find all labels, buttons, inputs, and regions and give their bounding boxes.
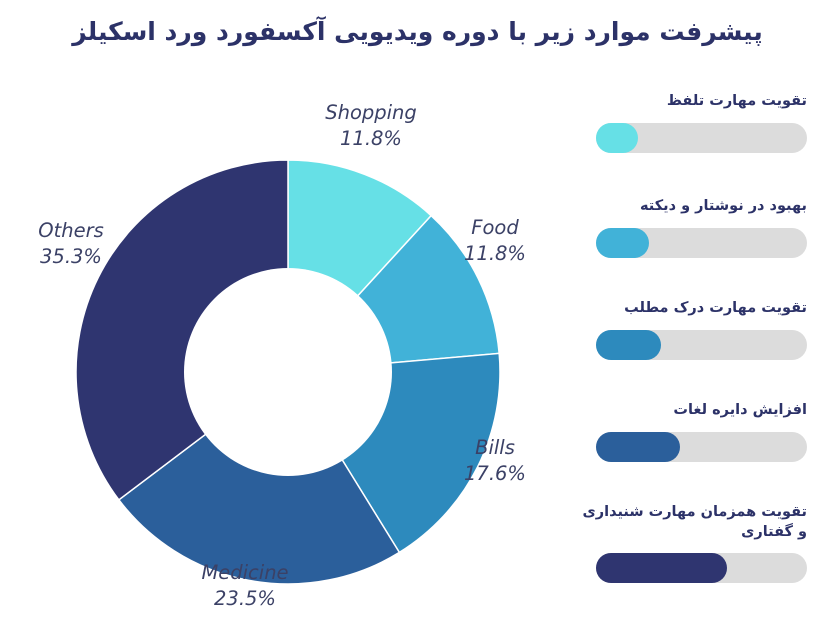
slice-label-food-name: Food bbox=[471, 216, 518, 239]
slice-label-shopping: Shopping 11.8% bbox=[276, 100, 466, 152]
progress-item-comprehension: تقویت مهارت درک مطلب bbox=[570, 299, 835, 360]
progress-item-listening-speaking-track bbox=[596, 553, 807, 583]
progress-item-comprehension-label: تقویت مهارت درک مطلب bbox=[570, 299, 835, 319]
slice-label-others: Others 35.3% bbox=[0, 218, 142, 270]
slice-label-others-name: Others bbox=[38, 219, 104, 242]
progress-item-listening-speaking-label: تقویت همزمان مهارت شنیداری و گفتاری bbox=[570, 503, 835, 542]
progress-item-writing-fill bbox=[596, 228, 649, 258]
progress-item-vocabulary-fill bbox=[596, 432, 680, 462]
progress-item-writing: بهبود در نوشتار و دیکته bbox=[570, 197, 835, 258]
slice-label-bills: Bills 17.6% bbox=[420, 435, 570, 487]
progress-item-pronunciation-label: تقویت مهارت تلفظ bbox=[570, 92, 835, 112]
progress-item-writing-track bbox=[596, 228, 807, 258]
donut-hole bbox=[184, 268, 392, 476]
progress-item-vocabulary: افزایش دایره لغات bbox=[570, 401, 835, 462]
progress-item-writing-label: بهبود در نوشتار و دیکته bbox=[570, 197, 835, 217]
slice-label-food: Food 11.8% bbox=[420, 215, 570, 267]
page-title: پیشرفت موارد زیر با دوره ویدیویی آکسفورد… bbox=[0, 14, 835, 50]
progress-item-listening-speaking-fill bbox=[596, 553, 727, 583]
infographic-page: پیشرفت موارد زیر با دوره ویدیویی آکسفورد… bbox=[0, 0, 835, 624]
slice-label-others-value: 35.3% bbox=[0, 244, 142, 270]
progress-item-pronunciation-fill bbox=[596, 123, 638, 153]
slice-label-shopping-value: 11.8% bbox=[276, 126, 466, 152]
progress-list: تقویت مهارت تلفظ بهبود در نوشتار و دیکته… bbox=[570, 92, 835, 612]
donut-chart: Shopping 11.8% Food 11.8% Bills 17.6% Me… bbox=[0, 90, 570, 624]
slice-label-shopping-name: Shopping bbox=[325, 101, 417, 124]
progress-item-pronunciation: تقویت مهارت تلفظ bbox=[570, 92, 835, 153]
progress-item-comprehension-fill bbox=[596, 330, 661, 360]
progress-item-listening-speaking: تقویت همزمان مهارت شنیداری و گفتاری bbox=[570, 503, 835, 583]
progress-item-vocabulary-label: افزایش دایره لغات bbox=[570, 401, 835, 421]
progress-item-pronunciation-track bbox=[596, 123, 807, 153]
slice-label-medicine-value: 23.5% bbox=[140, 586, 350, 612]
donut-chart-svg bbox=[0, 90, 570, 624]
slice-label-bills-value: 17.6% bbox=[420, 461, 570, 487]
slice-label-food-value: 11.8% bbox=[420, 241, 570, 267]
progress-item-vocabulary-track bbox=[596, 432, 807, 462]
slice-label-medicine: Medicine 23.5% bbox=[140, 560, 350, 612]
slice-label-bills-name: Bills bbox=[475, 436, 515, 459]
progress-item-comprehension-track bbox=[596, 330, 807, 360]
slice-label-medicine-name: Medicine bbox=[201, 561, 288, 584]
